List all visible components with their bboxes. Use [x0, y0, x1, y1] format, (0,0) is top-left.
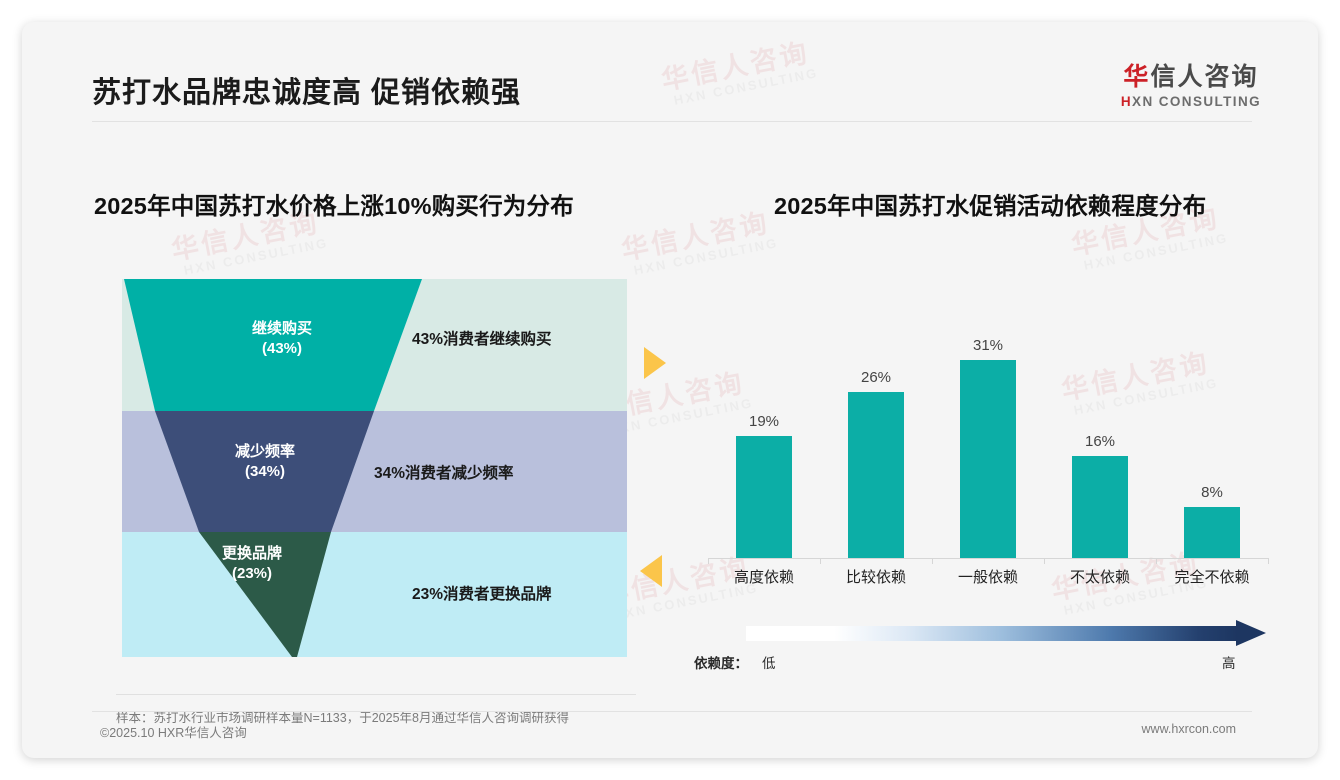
axis-tick — [1156, 558, 1157, 564]
footer-copyright: ©2025.10 HXR华信人咨询 — [100, 722, 247, 741]
slide-header: 苏打水品牌忠诚度高 促销依赖强 华信人咨询 HXN CONSULTING — [22, 22, 1318, 122]
play-left-icon — [640, 555, 662, 587]
footer-website: www.hxrcon.com — [1142, 722, 1236, 736]
left-panel-title: 2025年中国苏打水价格上涨10%购买行为分布 — [94, 187, 574, 221]
purchase-behavior-funnel: 继续购买 (43%) 减少频率 (34%) 更换品牌 (23%) 43%消费者继… — [122, 279, 627, 657]
bar-slot: 31% — [932, 308, 1044, 558]
logo-en-text: HXN CONSULTING — [1121, 94, 1261, 109]
axis-tick — [820, 558, 821, 564]
category-label: 高度依赖 — [708, 566, 820, 587]
funnel-band-2 — [122, 532, 627, 657]
watermark-en: HXN CONSULTING — [183, 235, 330, 278]
page-title: 苏打水品牌忠诚度高 促销依赖强 — [92, 69, 521, 111]
bar-value-label: 16% — [1085, 434, 1115, 449]
axis-tick — [1268, 558, 1269, 564]
legend-low-label: 低 — [762, 652, 776, 672]
chart-x-ticks — [708, 558, 1268, 564]
footer-divider — [92, 711, 1252, 712]
gradient-arrow — [746, 620, 1268, 646]
gradient-bar — [746, 626, 1238, 641]
logo-cn-rest: 信人咨询 — [1150, 63, 1258, 91]
logo-en-rest: XN CONSULTING — [1132, 94, 1261, 109]
header-divider — [92, 121, 1252, 122]
watermark-en: HXN CONSULTING — [1083, 230, 1230, 273]
bar-group: 19%26%31%16%8% — [708, 308, 1268, 558]
watermark-cn: 华信人咨询 — [619, 208, 776, 265]
category-label: 完全不依赖 — [1156, 566, 1268, 587]
bar-slot: 8% — [1156, 308, 1268, 558]
funnel-segment-0 — [124, 279, 422, 411]
dependence-gradient-legend: 依赖度： 低 高 — [694, 620, 1268, 676]
promo-dependence-bar-chart: 19%26%31%16%8% — [708, 308, 1268, 558]
right-panel-title: 2025年中国苏打水促销活动依赖程度分布 — [774, 187, 1206, 221]
bar[interactable] — [848, 392, 904, 558]
axis-tick — [1044, 558, 1045, 564]
slide-card: 华信人咨询 HXN CONSULTING 华信人咨询 HXN CONSULTIN… — [22, 22, 1318, 758]
brand-logo: 华信人咨询 HXN CONSULTING — [1121, 64, 1261, 109]
category-label: 一般依赖 — [932, 566, 1044, 587]
logo-en-accent: H — [1121, 94, 1132, 109]
bar[interactable] — [1184, 507, 1240, 558]
axis-tick — [932, 558, 933, 564]
arrow-head-icon — [1236, 620, 1266, 646]
bar-value-label: 8% — [1201, 485, 1223, 500]
category-label: 不太依赖 — [1044, 566, 1156, 587]
bar-slot: 16% — [1044, 308, 1156, 558]
watermark: 华信人咨询 HXN CONSULTING — [619, 208, 779, 280]
legend-title: 依赖度： — [694, 652, 748, 672]
logo-cn-accent: 华 — [1123, 63, 1150, 91]
play-right-icon — [644, 347, 666, 379]
chart-x-labels: 高度依赖比较依赖一般依赖不太依赖完全不依赖 — [708, 566, 1268, 587]
logo-cn-text: 华信人咨询 — [1121, 64, 1261, 92]
watermark-en: HXN CONSULTING — [633, 235, 780, 278]
category-label: 比较依赖 — [820, 566, 932, 587]
funnel-svg — [122, 279, 627, 657]
bar[interactable] — [960, 360, 1016, 558]
bar-value-label: 31% — [973, 338, 1003, 353]
bar[interactable] — [1072, 456, 1128, 558]
bar-value-label: 26% — [861, 370, 891, 385]
bar-slot: 19% — [708, 308, 820, 558]
legend-high-label: 高 — [1222, 652, 1236, 672]
bar-value-label: 19% — [749, 414, 779, 429]
axis-tick — [708, 558, 709, 564]
bar-slot: 26% — [820, 308, 932, 558]
bar[interactable] — [736, 436, 792, 558]
